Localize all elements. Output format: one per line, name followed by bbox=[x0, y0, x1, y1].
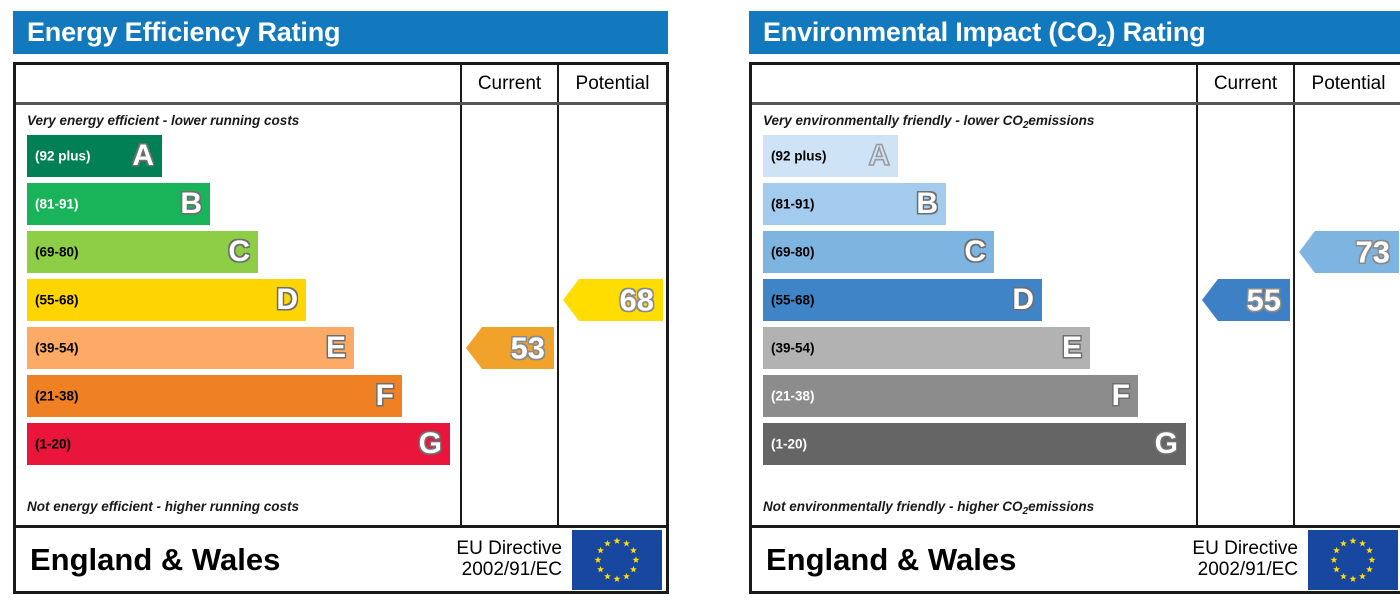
eu-flag-icon bbox=[572, 530, 662, 590]
band-range-label: (69-80) bbox=[771, 245, 815, 260]
rating-band-F: (21-38)F bbox=[27, 375, 402, 417]
rating-band-C: (69-80)C bbox=[763, 231, 994, 273]
header-cell-current: Current bbox=[1196, 65, 1293, 102]
eu-flag-icon bbox=[1308, 530, 1398, 590]
current-rating-marker: 55 bbox=[1202, 279, 1290, 321]
rating-bands-area: Very environmentally friendly - lower CO… bbox=[752, 105, 1196, 525]
potential-rating-value: 68 bbox=[620, 285, 654, 316]
rating-band-A: (92 plus)A bbox=[27, 135, 162, 177]
rating-band-G: (1-20)G bbox=[27, 423, 450, 465]
caption-bottom-text: Not energy efficient - higher running co… bbox=[27, 499, 299, 514]
current-rating-marker: 53 bbox=[466, 327, 554, 369]
chart-title-text: Environmental Impact (CO bbox=[763, 17, 1097, 47]
rating-band-B: (81-91)B bbox=[27, 183, 210, 225]
band-letter-label: E bbox=[326, 333, 346, 363]
chart-title-tail: ) Rating bbox=[1107, 17, 1206, 47]
caption-bottom: Not energy efficient - higher running co… bbox=[27, 499, 299, 514]
column-divider-potential bbox=[557, 105, 559, 525]
directive-line-1: EU Directive bbox=[414, 538, 562, 560]
rating-table: CurrentPotentialVery environmentally fri… bbox=[749, 62, 1400, 594]
band-letter-label: A bbox=[868, 141, 890, 171]
chart-title-subscript: 2 bbox=[1097, 31, 1106, 50]
caption-top-tail: emissions bbox=[1028, 113, 1094, 128]
rating-table: CurrentPotentialVery energy efficient - … bbox=[13, 62, 669, 594]
band-range-label: (1-20) bbox=[771, 437, 807, 452]
table-footer-row: England & WalesEU Directive2002/91/EC bbox=[16, 525, 666, 591]
band-letter-label: G bbox=[1155, 429, 1178, 459]
caption-top: Very energy efficient - lower running co… bbox=[27, 113, 299, 128]
band-range-label: (55-68) bbox=[771, 293, 815, 308]
footer-directive-label: EU Directive2002/91/EC bbox=[1150, 538, 1298, 582]
caption-top-text: Very environmentally friendly - lower CO bbox=[763, 113, 1023, 128]
caption-top-subscript: 2 bbox=[1023, 120, 1029, 131]
rating-band-G: (1-20)G bbox=[763, 423, 1186, 465]
band-range-label: (92 plus) bbox=[35, 149, 91, 164]
rating-band-B: (81-91)B bbox=[763, 183, 946, 225]
header-cell-potential: Potential bbox=[1293, 65, 1400, 102]
directive-line-2: 2002/91/EC bbox=[1150, 560, 1298, 582]
chart-title: Energy Efficiency Rating bbox=[13, 11, 668, 54]
column-divider-potential bbox=[1293, 105, 1295, 525]
header-cell-blank bbox=[752, 65, 1196, 102]
table-header-row: CurrentPotential bbox=[752, 65, 1400, 105]
band-letter-label: A bbox=[132, 141, 154, 171]
epc-panel-environmental-impact: Environmental Impact (CO2) RatingCurrent… bbox=[748, 0, 1400, 607]
band-range-label: (21-38) bbox=[35, 389, 79, 404]
rating-band-D: (55-68)D bbox=[763, 279, 1042, 321]
potential-rating-marker: 68 bbox=[563, 279, 663, 321]
chart-title: Environmental Impact (CO2) Rating bbox=[749, 11, 1400, 54]
footer-region-label: England & Wales bbox=[766, 542, 1016, 578]
band-letter-label: E bbox=[1062, 333, 1082, 363]
band-letter-label: D bbox=[1012, 285, 1034, 315]
band-letter-label: C bbox=[228, 237, 250, 267]
caption-bottom-tail: emissions bbox=[1028, 499, 1094, 514]
header-cell-potential: Potential bbox=[557, 65, 666, 102]
band-range-label: (21-38) bbox=[771, 389, 815, 404]
footer-region-label: England & Wales bbox=[30, 542, 280, 578]
band-range-label: (39-54) bbox=[35, 341, 79, 356]
caption-bottom-text: Not environmentally friendly - higher CO bbox=[763, 499, 1023, 514]
rating-band-D: (55-68)D bbox=[27, 279, 306, 321]
band-letter-label: G bbox=[419, 429, 442, 459]
caption-bottom: Not environmentally friendly - higher CO… bbox=[763, 499, 1094, 514]
band-range-label: (55-68) bbox=[35, 293, 79, 308]
band-range-label: (69-80) bbox=[35, 245, 79, 260]
header-cell-current: Current bbox=[460, 65, 557, 102]
chart-title-text: Energy Efficiency Rating bbox=[27, 17, 340, 47]
table-footer-row: England & WalesEU Directive2002/91/EC bbox=[752, 525, 1400, 591]
current-rating-value: 53 bbox=[511, 333, 545, 364]
rating-band-F: (21-38)F bbox=[763, 375, 1138, 417]
band-letter-label: F bbox=[1112, 381, 1130, 411]
rating-band-C: (69-80)C bbox=[27, 231, 258, 273]
caption-bottom-subscript: 2 bbox=[1023, 506, 1029, 517]
band-range-label: (81-91) bbox=[771, 197, 815, 212]
band-letter-label: D bbox=[276, 285, 298, 315]
column-divider-current bbox=[460, 105, 462, 525]
band-range-label: (1-20) bbox=[35, 437, 71, 452]
band-letter-label: B bbox=[916, 189, 938, 219]
band-range-label: (39-54) bbox=[771, 341, 815, 356]
footer-directive-label: EU Directive2002/91/EC bbox=[414, 538, 562, 582]
band-range-label: (92 plus) bbox=[771, 149, 827, 164]
potential-rating-marker: 73 bbox=[1299, 231, 1399, 273]
band-letter-label: C bbox=[964, 237, 986, 267]
rating-band-A: (92 plus)A bbox=[763, 135, 898, 177]
band-range-label: (81-91) bbox=[35, 197, 79, 212]
table-header-row: CurrentPotential bbox=[16, 65, 666, 105]
band-letter-label: F bbox=[376, 381, 394, 411]
current-rating-value: 55 bbox=[1247, 285, 1281, 316]
rating-band-E: (39-54)E bbox=[27, 327, 354, 369]
caption-top: Very environmentally friendly - lower CO… bbox=[763, 113, 1094, 128]
potential-rating-value: 73 bbox=[1356, 237, 1390, 268]
column-divider-current bbox=[1196, 105, 1198, 525]
band-letter-label: B bbox=[180, 189, 202, 219]
rating-bands-area: Very energy efficient - lower running co… bbox=[16, 105, 460, 525]
caption-top-text: Very energy efficient - lower running co… bbox=[27, 113, 299, 128]
epc-panel-energy-efficiency: Energy Efficiency RatingCurrentPotential… bbox=[12, 0, 672, 607]
epc-chart-page: Energy Efficiency RatingCurrentPotential… bbox=[0, 0, 1400, 607]
rating-band-E: (39-54)E bbox=[763, 327, 1090, 369]
header-cell-blank bbox=[16, 65, 460, 102]
directive-line-2: 2002/91/EC bbox=[414, 560, 562, 582]
directive-line-1: EU Directive bbox=[1150, 538, 1298, 560]
